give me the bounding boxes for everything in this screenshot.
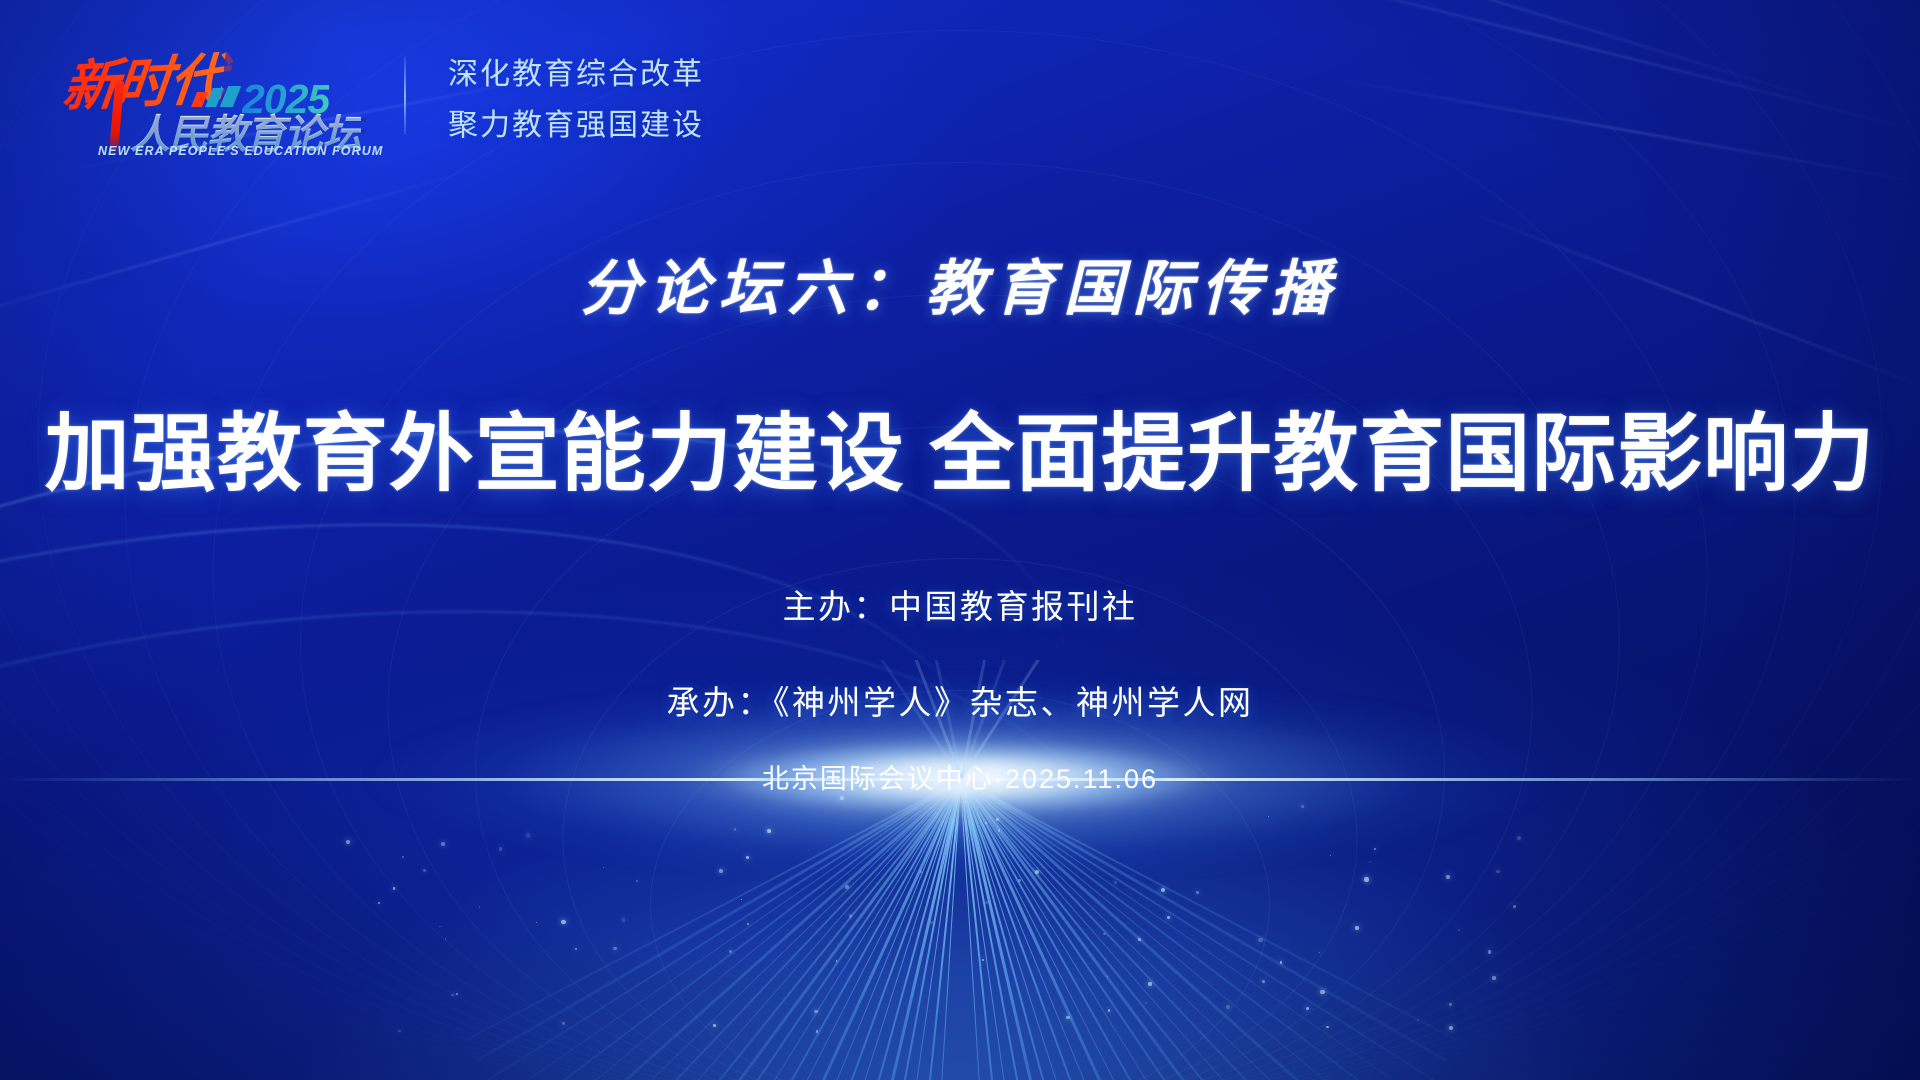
organizer-block: 主办：中国教育报刊社 承办：《神州学人》杂志、神州学人网 xyxy=(0,580,1920,724)
light-streak xyxy=(1325,76,1920,186)
forum-session-title: 分论坛六：教育国际传播 xyxy=(0,240,1920,327)
logo-brand-en: NEW ERA PEOPLE'S EDUCATION FORUM xyxy=(98,144,383,158)
organizer-line: 主办：中国教育报刊社 xyxy=(0,580,1920,628)
forum-headline: 加强教育外宣能力建设 全面提升教育国际影响力 xyxy=(0,385,1920,508)
venue-date-line: 北京国际会议中心·2025.11.06 xyxy=(0,757,1920,796)
forum-tagline: 深化教育综合改革 聚力教育强国建设 xyxy=(448,49,704,144)
tagline-line-1: 深化教育综合改革 xyxy=(448,49,704,93)
forum-logo-lockup: 新时代 2025 人民教育论坛 NEW ERA PEOPLE'S EDUCATI… xyxy=(52,36,704,156)
event-backdrop-poster: 新时代 2025 人民教育论坛 NEW ERA PEOPLE'S EDUCATI… xyxy=(0,0,1920,1080)
co-organizer-line: 承办：《神州学人》杂志、神州学人网 xyxy=(0,676,1920,724)
forum-logo-mark: 新时代 2025 人民教育论坛 NEW ERA PEOPLE'S EDUCATI… xyxy=(52,36,324,156)
logo-divider xyxy=(404,57,406,135)
tagline-line-2: 聚力教育强国建设 xyxy=(448,100,704,144)
